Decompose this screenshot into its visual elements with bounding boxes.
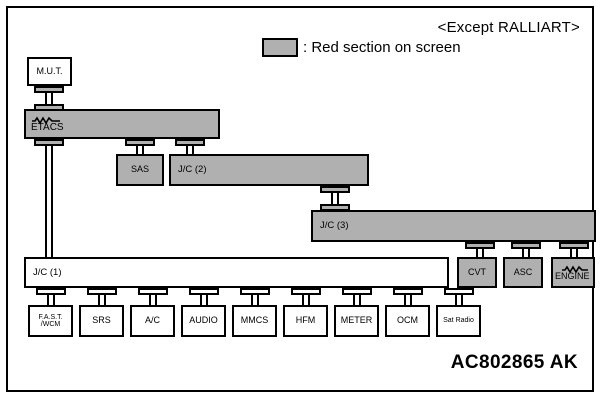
- trunk-line: [45, 146, 47, 257]
- connector-pin: [104, 295, 106, 305]
- connector-pin: [455, 295, 457, 305]
- node-asc[interactable]: ASC: [503, 257, 543, 288]
- connector-pin: [257, 295, 259, 305]
- connector-pins: [353, 295, 361, 305]
- node-engine[interactable]: ENGINE: [551, 257, 595, 288]
- node-jc1[interactable]: J/C (1): [24, 257, 449, 288]
- legend-label: : Red section on screen: [303, 39, 461, 56]
- connector-pin: [51, 93, 53, 104]
- connector-pin: [353, 295, 355, 305]
- connector-jc2-jc3: [320, 186, 350, 211]
- node-mut-label: M.U.T.: [37, 67, 63, 76]
- node-module[interactable]: METER: [334, 305, 379, 337]
- connector-plate-top: [189, 288, 219, 295]
- connector-plate-top: [240, 288, 270, 295]
- connector-pins: [98, 295, 106, 305]
- connector-pin: [308, 295, 310, 305]
- connector-pins: [302, 295, 310, 305]
- node-jc1-label: J/C (1): [33, 268, 62, 278]
- connector-plate-top: [393, 288, 423, 295]
- connector-pins: [47, 295, 55, 305]
- connector-plate-top: [175, 139, 205, 146]
- connector-pin: [302, 295, 304, 305]
- node-module[interactable]: SRS: [79, 305, 124, 337]
- connector-pin: [359, 295, 361, 305]
- node-module-label: OCM: [397, 316, 418, 325]
- variant-note: <Except RALLIART>: [438, 19, 580, 36]
- connector-plate-top: [34, 86, 64, 93]
- diagram-frame: <Except RALLIART> : Red section on scree…: [6, 6, 594, 392]
- connector-pins: [251, 295, 259, 305]
- connector-plate-top: [34, 139, 64, 146]
- connector-pin: [404, 295, 406, 305]
- connector-plate-top: [320, 186, 350, 193]
- connector-pin: [200, 295, 202, 305]
- node-module[interactable]: F.A.S.T./WCM: [28, 305, 73, 337]
- node-module-label: A/C: [145, 316, 160, 325]
- node-module[interactable]: OCM: [385, 305, 430, 337]
- connector-plate-top: [125, 139, 155, 146]
- connector-pins: [455, 295, 463, 305]
- legend: : Red section on screen: [262, 38, 461, 57]
- connector-plate-top: [559, 242, 589, 249]
- connector-plate-top: [87, 288, 117, 295]
- connector-pin: [45, 93, 47, 104]
- connector-pin: [337, 193, 339, 204]
- node-etacs[interactable]: ETACS: [24, 109, 220, 139]
- node-module-label: SRS: [92, 316, 111, 325]
- connector-pin: [410, 295, 412, 305]
- node-sas-label: SAS: [131, 165, 149, 174]
- node-module-label-2: /WCM: [41, 321, 60, 328]
- connector-pin: [149, 295, 151, 305]
- node-asc-label: ASC: [514, 268, 533, 277]
- node-module-label: Sat Radio: [443, 317, 474, 324]
- connector-pins: [149, 295, 157, 305]
- node-jc3-label: J/C (3): [320, 221, 349, 231]
- figure-code: AC802865 AK: [451, 352, 578, 374]
- connector-pin: [331, 193, 333, 204]
- connector-pins: [45, 93, 53, 104]
- trunk-line: [51, 146, 53, 257]
- node-module-label: MMCS: [241, 316, 269, 325]
- diagram-canvas: <Except RALLIART> : Red section on scree…: [0, 0, 602, 400]
- trunk-etacs-jc1: [45, 146, 53, 257]
- node-module[interactable]: Sat Radio: [436, 305, 481, 337]
- node-etacs-label: ETACS: [31, 123, 64, 133]
- node-module-label: HFM: [296, 316, 316, 325]
- connector-pin: [155, 295, 157, 305]
- node-mut[interactable]: M.U.T.: [27, 57, 72, 86]
- connector-pin: [53, 295, 55, 305]
- connector-etacs-trunk-top: [34, 139, 64, 146]
- node-module[interactable]: A/C: [130, 305, 175, 337]
- node-jc2[interactable]: J/C (2): [169, 154, 369, 186]
- node-cvt[interactable]: CVT: [457, 257, 497, 288]
- connector-plate-top: [291, 288, 321, 295]
- node-module[interactable]: MMCS: [232, 305, 277, 337]
- connector-plate-top: [465, 242, 495, 249]
- connector-pin: [251, 295, 253, 305]
- connector-mut-etacs: [34, 86, 64, 111]
- node-module-label: METER: [341, 316, 373, 325]
- node-sas[interactable]: SAS: [116, 154, 164, 186]
- connector-plate-top: [138, 288, 168, 295]
- connector-plate-top: [36, 288, 66, 295]
- connector-pins: [331, 193, 339, 204]
- connector-pin: [98, 295, 100, 305]
- node-engine-label: ENGINE: [555, 272, 590, 281]
- connector-pin: [206, 295, 208, 305]
- node-module[interactable]: HFM: [283, 305, 328, 337]
- connector-plate-top: [342, 288, 372, 295]
- node-jc3[interactable]: J/C (3): [311, 210, 596, 242]
- connector-pins: [404, 295, 412, 305]
- gray-swatch: [262, 38, 298, 57]
- connector-pin: [461, 295, 463, 305]
- node-module-label: AUDIO: [189, 316, 218, 325]
- node-module-label: F.A.S.T.: [38, 314, 62, 321]
- node-module[interactable]: AUDIO: [181, 305, 226, 337]
- connector-pin: [47, 295, 49, 305]
- connector-plate-top: [444, 288, 474, 295]
- node-cvt-label: CVT: [468, 268, 486, 277]
- connector-pins: [200, 295, 208, 305]
- connector-plate-top: [511, 242, 541, 249]
- node-jc2-label: J/C (2): [178, 165, 207, 175]
